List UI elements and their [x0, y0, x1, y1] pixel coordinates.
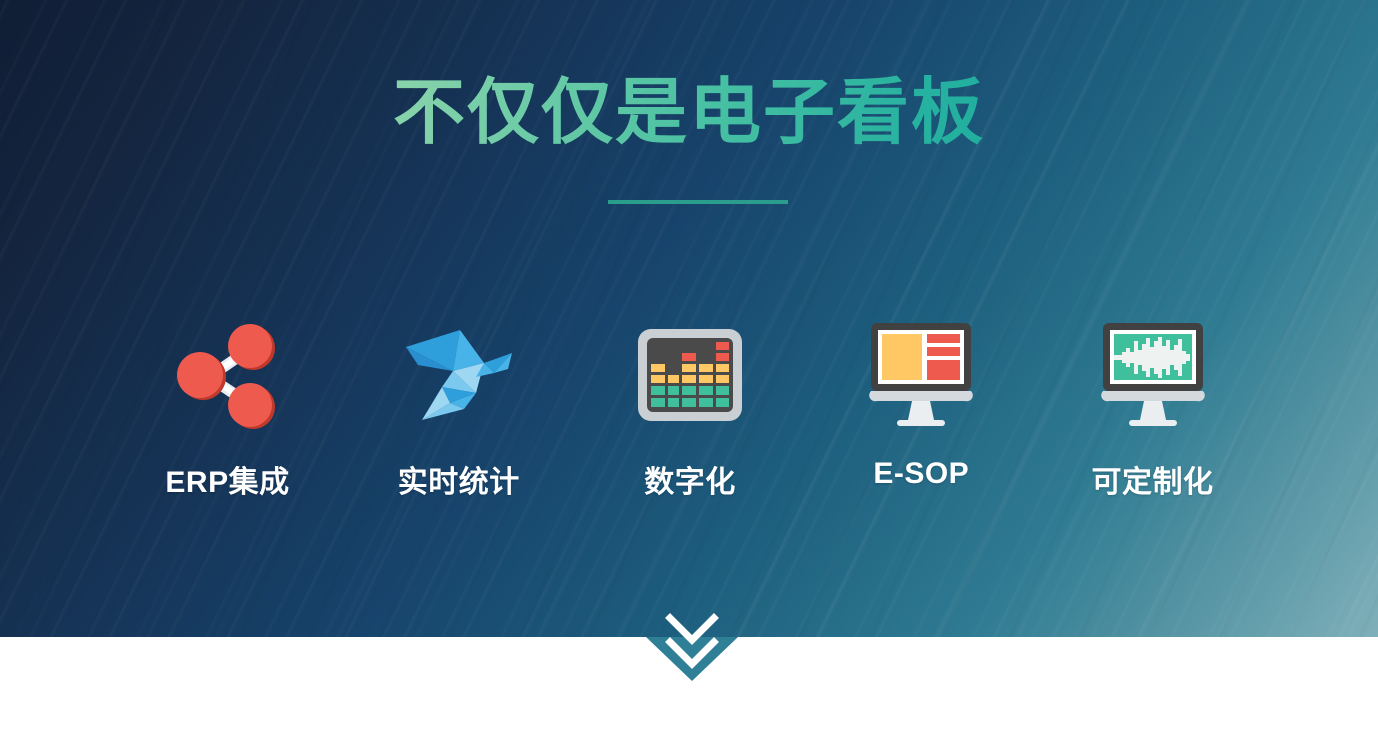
equalizer-board-icon [637, 328, 743, 422]
title-divider [608, 200, 788, 204]
feature-icon-wrap [173, 315, 283, 435]
feature-list: ERP集成 [120, 315, 1260, 525]
double-chevron-down-icon[interactable] [660, 612, 724, 670]
feature-label: E-SOP [873, 457, 969, 491]
origami-bird-icon [398, 325, 520, 425]
feature-item-e-sop[interactable]: E-SOP [814, 315, 1029, 491]
monitor-layout-icon [869, 321, 973, 429]
page-title: 不仅仅是电子看板 [0, 75, 1378, 153]
page-root: 不仅仅是电子看板 [0, 0, 1378, 751]
feature-icon-wrap [1101, 315, 1205, 435]
hero-banner: 不仅仅是电子看板 [0, 0, 1378, 637]
feature-label: ERP集成 [165, 457, 289, 501]
feature-item-digitization[interactable]: 数字化 [583, 315, 798, 501]
feature-icon-wrap [398, 315, 520, 435]
monitor-waveform-icon [1101, 321, 1205, 429]
share-network-icon [173, 319, 283, 431]
feature-item-customizable[interactable]: 可定制化 [1045, 315, 1260, 501]
feature-label: 可定制化 [1092, 457, 1214, 501]
feature-item-realtime-stats[interactable]: 实时统计 [351, 315, 566, 501]
feature-icon-wrap [637, 315, 743, 435]
feature-label: 数字化 [644, 457, 736, 501]
feature-icon-wrap [869, 315, 973, 435]
feature-item-erp-integration[interactable]: ERP集成 [120, 315, 335, 501]
feature-label: 实时统计 [398, 457, 520, 501]
